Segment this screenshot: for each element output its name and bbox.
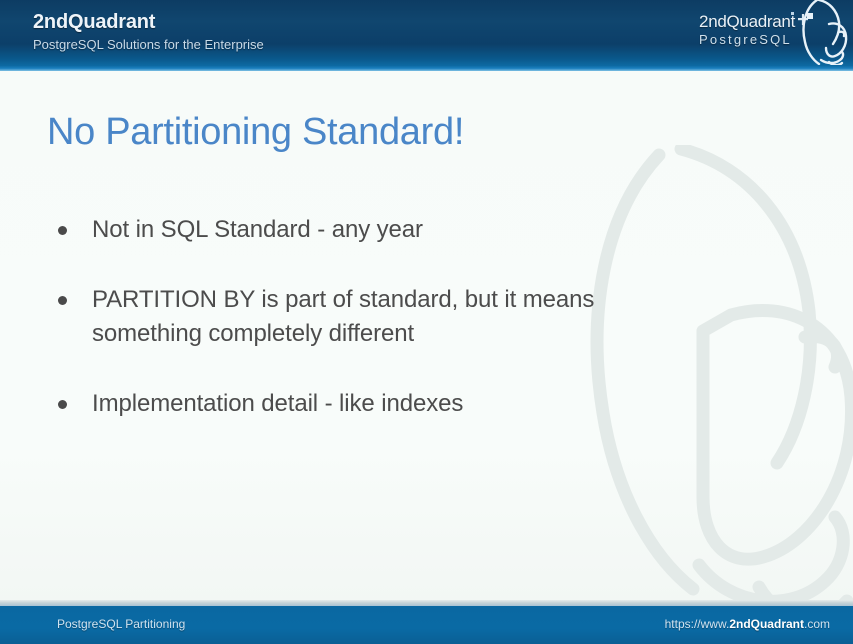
header-tagline: PostgreSQL Solutions for the Enterprise	[33, 36, 264, 54]
header-logo-block: 2ndQuadrant PostgreSQL	[699, 12, 795, 48]
slide-title: No Partitioning Standard!	[47, 111, 464, 154]
presentation-slide: 2ndQuadrant PostgreSQL Solutions for the…	[0, 0, 853, 644]
footer-url-prefix: https://www.	[665, 617, 730, 631]
slide-header: 2ndQuadrant PostgreSQL Solutions for the…	[0, 0, 853, 71]
bullet-text: Not in SQL Standard - any year	[92, 216, 423, 243]
elephant-logo-icon	[799, 0, 851, 71]
bullet-dot-icon	[58, 296, 67, 305]
list-item: Not in SQL Standard - any year	[50, 213, 790, 247]
slide-footer: PostgreSQL Partitioning https://www.2ndQ…	[0, 606, 853, 644]
slide-body: No Partitioning Standard! Not in SQL Sta…	[0, 71, 853, 606]
header-logo-subtitle: PostgreSQL	[699, 32, 795, 48]
header-brand-name: 2ndQuadrant	[33, 10, 264, 34]
list-item: Implementation detail - like indexes	[50, 387, 790, 421]
footer-website-link[interactable]: https://www.2ndQuadrant.com	[665, 617, 830, 631]
bullet-text: PARTITION BY is part of standard, but it…	[92, 286, 594, 313]
bullet-list: Not in SQL Standard - any year PARTITION…	[50, 213, 790, 457]
footer-deck-title: PostgreSQL Partitioning	[57, 617, 185, 631]
footer-url-suffix: .com	[804, 617, 830, 631]
bullet-text: Implementation detail - like indexes	[92, 390, 463, 417]
list-item: PARTITION BY is part of standard, but it…	[50, 283, 790, 351]
bullet-dot-icon	[58, 400, 67, 409]
bullet-dot-icon	[58, 226, 67, 235]
header-brand-block: 2ndQuadrant PostgreSQL Solutions for the…	[33, 10, 264, 54]
footer-url-brand: 2ndQuadrant	[729, 617, 804, 631]
header-logo-title: 2ndQuadrant	[699, 12, 795, 32]
bullet-text-line2: something completely different	[92, 317, 790, 351]
